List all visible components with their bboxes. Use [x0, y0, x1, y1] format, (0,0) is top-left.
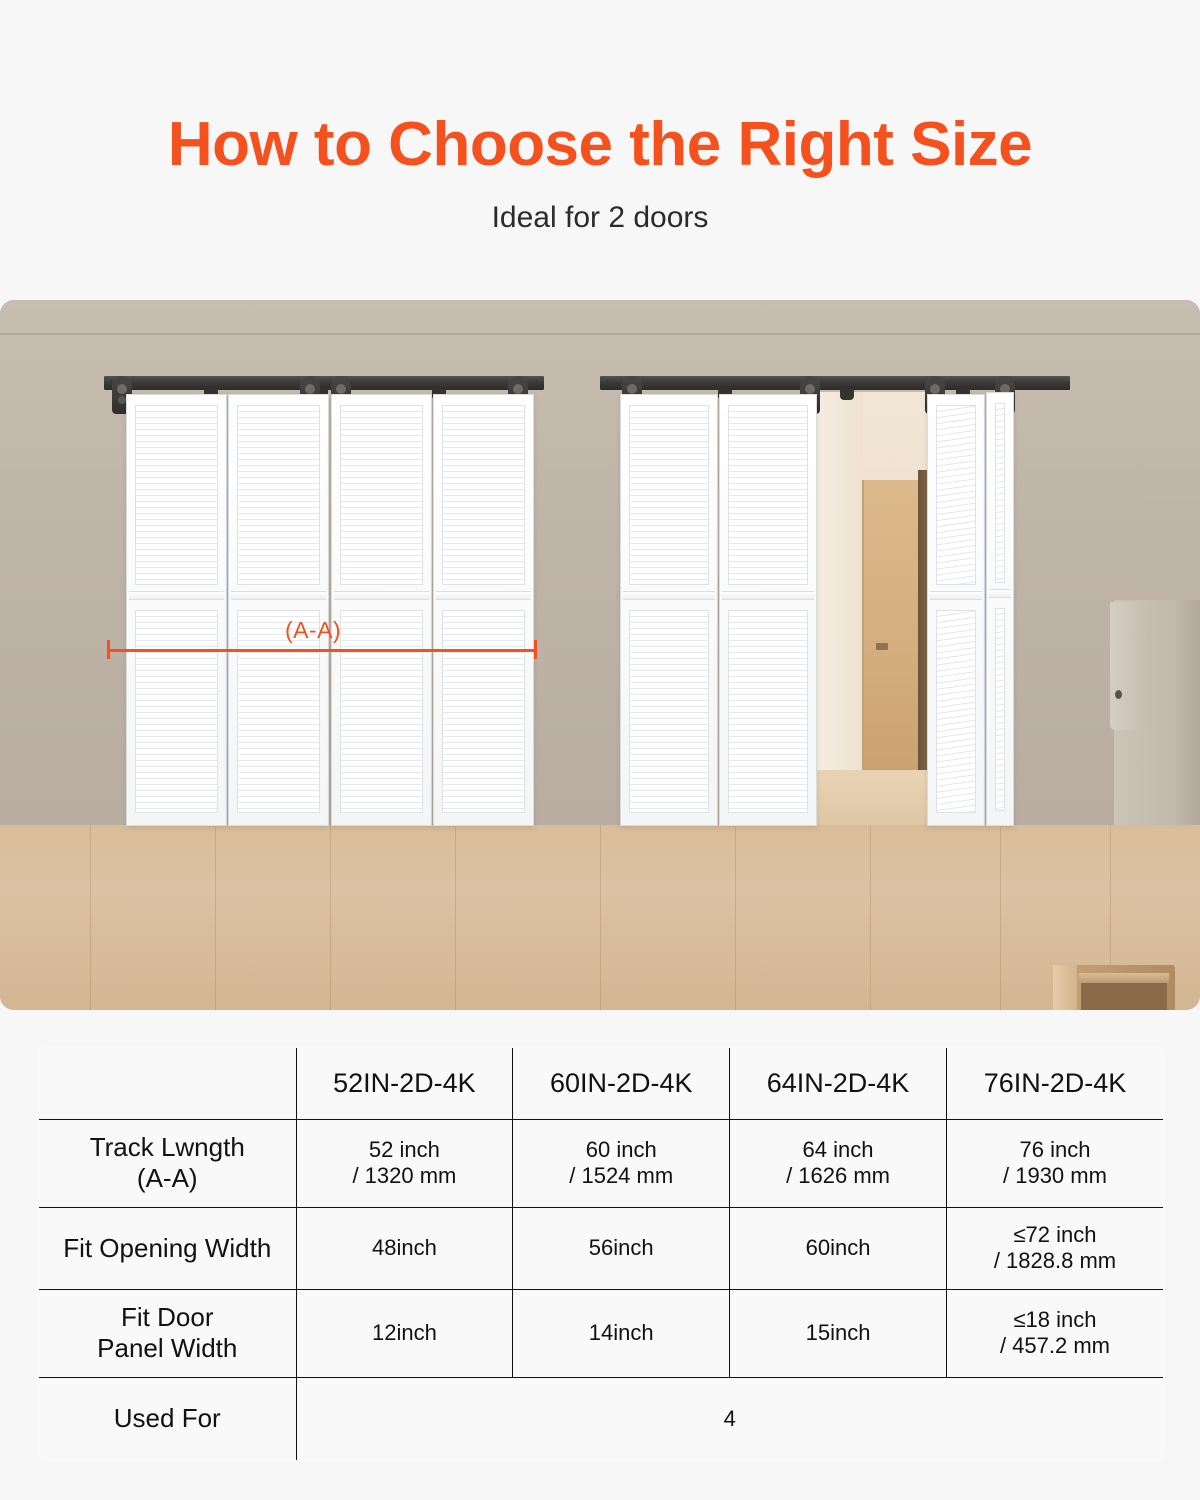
table-cell: 60 inch / 1524 mm [513, 1119, 730, 1207]
table-header-row: 52IN-2D-4K 60IN-2D-4K 64IN-2D-4K 76IN-2D… [38, 1047, 1164, 1119]
door-panel [719, 394, 817, 826]
cell-line: 12inch [303, 1320, 507, 1346]
page-header: How to Choose the Right Size Ideal for 2… [0, 0, 1200, 235]
page-subtitle: Ideal for 2 doors [0, 201, 1200, 235]
row-label-line: Fit Door [45, 1302, 290, 1333]
specification-table: 52IN-2D-4K 60IN-2D-4K 64IN-2D-4K 76IN-2D… [37, 1046, 1165, 1462]
table-cell: ≤72 inch / 1828.8 mm [946, 1207, 1164, 1289]
row-label-used-for: Used For [38, 1377, 296, 1461]
shelving-unit [1053, 965, 1175, 1010]
product-photo: (A-A) Door Thickness: 1-3/8'' [0, 300, 1200, 1010]
table-cell-used-for-value: 4 [296, 1377, 1164, 1461]
cell-line: 14inch [519, 1320, 723, 1346]
cell-line: 48inch [303, 1235, 507, 1261]
row-label-line: Track Lwngth [45, 1132, 290, 1163]
door-panel-folded [986, 392, 1014, 826]
wall-jamb [1110, 602, 1148, 730]
cell-line: / 1930 mm [953, 1163, 1157, 1189]
table-header: 52IN-2D-4K 60IN-2D-4K 64IN-2D-4K 76IN-2D… [38, 1047, 1164, 1119]
row-label-fit-opening-width: Fit Opening Width [38, 1207, 296, 1289]
row-label-line: Panel Width [45, 1333, 290, 1364]
door-panel [228, 394, 329, 826]
dimension-label-aa: (A-A) [285, 617, 341, 644]
cell-line: 64 inch [736, 1137, 940, 1163]
table-row-fit-opening-width: Fit Opening Width 48inch 56inch 60inch ≤… [38, 1207, 1164, 1289]
cell-line: 60inch [736, 1235, 940, 1261]
table-row-fit-door-panel-width: Fit Door Panel Width 12inch 14inch 15inc… [38, 1289, 1164, 1377]
door-panel [620, 394, 718, 826]
cell-line: / 457.2 mm [953, 1333, 1157, 1359]
row-label-track-length: Track Lwngth (A-A) [38, 1119, 296, 1207]
table-body: Track Lwngth (A-A) 52 inch / 1320 mm 60 … [38, 1119, 1164, 1461]
cell-line: 56inch [519, 1235, 723, 1261]
table-cell: 15inch [730, 1289, 947, 1377]
column-header-52in: 52IN-2D-4K [296, 1047, 513, 1119]
cell-line: / 1626 mm [736, 1163, 940, 1189]
row-label-line: Fit Opening Width [45, 1233, 290, 1264]
row-label-fit-door-panel-width: Fit Door Panel Width [38, 1289, 296, 1377]
cell-line: 76 inch [953, 1137, 1157, 1163]
table-cell: 52 inch / 1320 mm [296, 1119, 513, 1207]
table-row-track-length: Track Lwngth (A-A) 52 inch / 1320 mm 60 … [38, 1119, 1164, 1207]
table-cell: 76 inch / 1930 mm [946, 1119, 1164, 1207]
hallway-door-handle [876, 643, 888, 650]
hallway-door [862, 480, 918, 800]
cell-line: 52 inch [303, 1137, 507, 1163]
table-row-used-for: Used For 4 [38, 1377, 1164, 1461]
column-header-60in: 60IN-2D-4K [513, 1047, 730, 1119]
door-panel-folded [927, 394, 985, 826]
track-rail-left [104, 376, 544, 390]
wall-jamb-screw [1115, 690, 1122, 699]
table-cell: 14inch [513, 1289, 730, 1377]
dimension-line-aa [107, 649, 537, 652]
table-cell: ≤18 inch / 457.2 mm [946, 1289, 1164, 1377]
door-panel [126, 394, 227, 826]
column-header-64in: 64IN-2D-4K [730, 1047, 947, 1119]
row-label-line: Used For [45, 1403, 290, 1434]
floor [0, 825, 1200, 1010]
table-cell: 64 inch / 1626 mm [730, 1119, 947, 1207]
table-corner-cell [38, 1047, 296, 1119]
cell-line: ≤72 inch [953, 1222, 1157, 1248]
cell-line: 60 inch [519, 1137, 723, 1163]
row-label-line: (A-A) [45, 1163, 290, 1194]
table-cell: 48inch [296, 1207, 513, 1289]
table-cell: 56inch [513, 1207, 730, 1289]
cell-line: / 1320 mm [303, 1163, 507, 1189]
column-header-76in: 76IN-2D-4K [946, 1047, 1164, 1119]
table-cell: 12inch [296, 1289, 513, 1377]
cell-line: / 1524 mm [519, 1163, 723, 1189]
cell-line: ≤18 inch [953, 1307, 1157, 1333]
page-title: How to Choose the Right Size [0, 112, 1200, 177]
wall-seam [0, 333, 1200, 335]
door-panel [331, 394, 432, 826]
cell-line: 15inch [736, 1320, 940, 1346]
cell-line: / 1828.8 mm [953, 1248, 1157, 1274]
table-cell: 60inch [730, 1207, 947, 1289]
door-panel [433, 394, 534, 826]
